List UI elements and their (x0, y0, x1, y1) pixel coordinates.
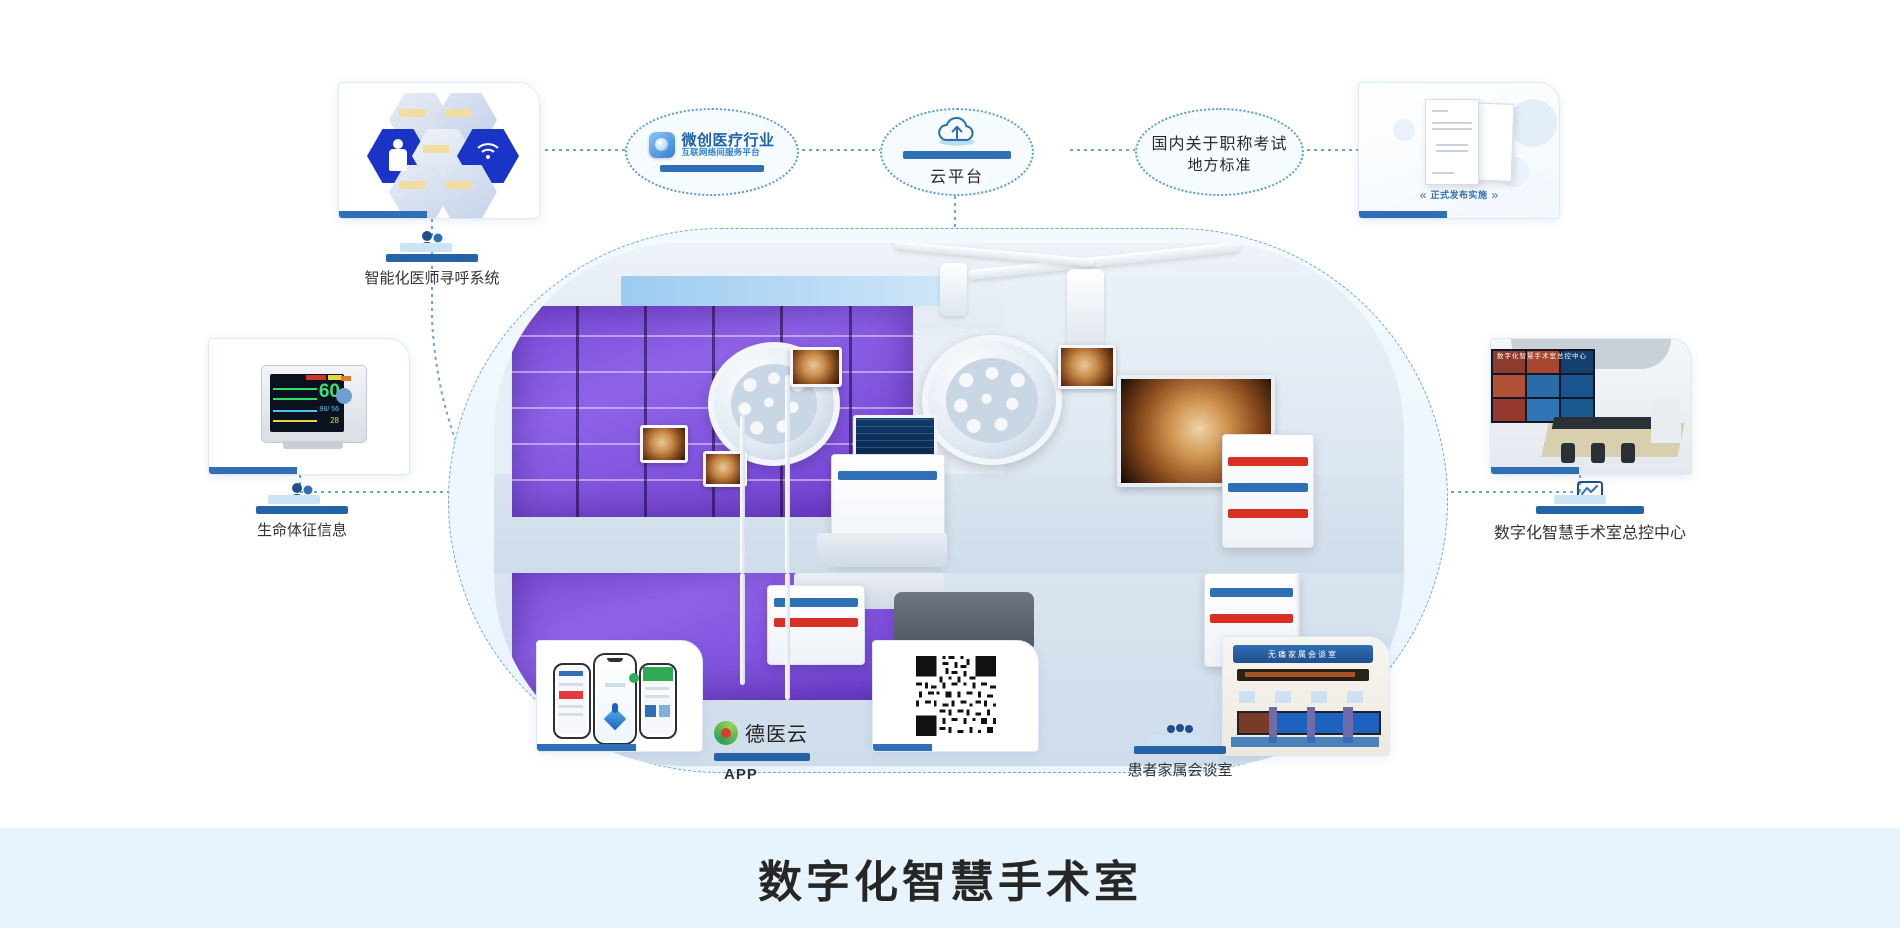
card-control-center[interactable]: 数字化智慧手术室总控中心 (1490, 338, 1692, 475)
central-operating-room-photo (494, 243, 1404, 573)
card-underbar (1491, 467, 1579, 474)
weichuang-logo-title: 微创医疗行业 (681, 133, 774, 149)
phone-center (593, 653, 637, 745)
node-control-center-label: 数字化智慧手术室总控中心 (1494, 519, 1686, 543)
document-front (1425, 99, 1479, 185)
page-title-banner: 数字化智慧手术室 (0, 828, 1900, 928)
node-family-room[interactable]: 患者家属会谈室 (1090, 718, 1270, 780)
node-bar (714, 753, 810, 761)
node-bar (1536, 506, 1644, 514)
card-app-phones[interactable] (536, 640, 703, 752)
node-pager-lightbar (400, 243, 452, 252)
doctor-head-icon (393, 139, 403, 149)
node-family-lightbar (1148, 735, 1200, 744)
anesthesia-cart (767, 585, 865, 665)
node-control-center[interactable]: 数字化智慧手术室总控中心 (1490, 478, 1690, 543)
node-family-room-label: 患者家属会谈室 (1127, 759, 1232, 780)
pill-standard[interactable]: 国内关于职称考试 地方标准 (1135, 108, 1304, 196)
card-underbar (873, 744, 932, 751)
node-vital-signs-label: 生命体征信息 (257, 519, 347, 540)
pill-standard-line1: 国内关于职称考试 (1151, 130, 1287, 154)
doctor-body-icon (389, 149, 407, 171)
node-vitals-lightbar (268, 495, 320, 504)
infographic-stage: 微创医疗行业 互联网络间服务平台 云平台 国内关于职称考试 地方标准 (0, 0, 1900, 928)
node-control-lightbar (1554, 495, 1606, 504)
node-vital-signs[interactable]: 生命体征信息 (212, 478, 392, 540)
node-smart-pager[interactable]: 智能化医师寻呼系统 (342, 226, 522, 288)
node-app-label: APP (724, 766, 758, 783)
phone-right (639, 663, 677, 739)
wifi-icon (475, 141, 501, 161)
qr-code-icon (913, 653, 999, 739)
control-center-wall-text: 数字化智慧手术室总控中心 (1497, 350, 1587, 360)
or-wall-sign (621, 276, 949, 306)
page-title: 数字化智慧手术室 (758, 846, 1142, 910)
weichuang-mark-icon (649, 132, 675, 158)
card-underbar (209, 467, 297, 474)
card-standard-documents[interactable]: « 正式发布实施 » (1358, 82, 1560, 219)
deyiyun-logo: 德医云 (714, 718, 808, 747)
cloud-upload-icon (934, 117, 980, 147)
node-bar (256, 506, 348, 514)
weichuang-logo-subtitle: 互联网络间服务平台 (681, 148, 774, 157)
pill-cloud-label: 云平台 (930, 163, 984, 187)
deyiyun-logo-icon (714, 721, 738, 745)
standard-banner-text: 正式发布实施 (1430, 188, 1487, 201)
card-underbar (537, 744, 636, 751)
node-bar (386, 254, 478, 262)
card-smart-pager-illustration[interactable] (338, 82, 540, 219)
cloud-underline (903, 151, 1011, 159)
card-qr-code[interactable] (872, 640, 1039, 752)
node-smart-pager-label: 智能化医师寻呼系统 (364, 267, 499, 288)
card-underbar (339, 211, 427, 218)
deyiyun-logo-text: 德医云 (745, 718, 808, 747)
pill-weichuang[interactable]: 微创医疗行业 互联网络间服务平台 (625, 108, 799, 196)
endoscope-screen-3 (640, 425, 688, 463)
node-app[interactable]: 德医云 APP (690, 718, 860, 783)
pill-standard-line2: 地方标准 (1187, 154, 1251, 175)
card-vital-signs-monitor[interactable]: 60 98/ 56 28 (208, 338, 410, 475)
weichuang-underline (660, 165, 764, 172)
phone-left (553, 663, 591, 739)
card-underbar (1359, 211, 1447, 218)
family-room-sign: 无痛家属会谈室 (1233, 645, 1373, 663)
surgical-light-right (922, 335, 1062, 465)
equipment-cart-right (1222, 434, 1314, 548)
endoscope-screen-2 (1058, 345, 1116, 389)
weichuang-logo: 微创医疗行业 互联网络间服务平台 (649, 132, 774, 158)
pill-cloud[interactable]: 云平台 (880, 108, 1034, 196)
family-room-sign-text: 无痛家属会谈室 (1268, 649, 1338, 660)
node-bar (1134, 746, 1226, 754)
endoscope-screen-1 (790, 347, 842, 387)
